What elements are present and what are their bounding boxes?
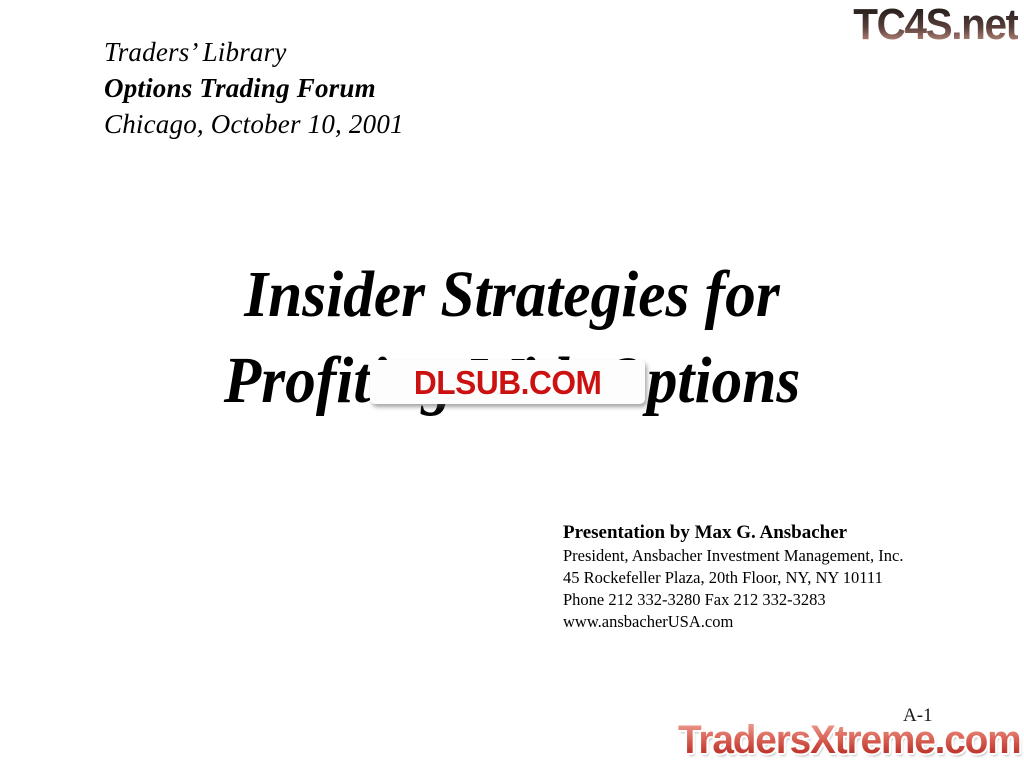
event-header: Traders’ Library Options Trading Forum C… — [104, 34, 624, 142]
presenter-title-company: President, Ansbacher Investment Manageme… — [563, 545, 983, 567]
header-event-name: Options Trading Forum — [104, 70, 624, 106]
header-organizer: Traders’ Library — [104, 34, 624, 70]
tc4s-watermark: TC4S.net — [854, 2, 1018, 48]
presenter-website: www.ansbacherUSA.com — [563, 611, 983, 633]
presenter-phone-fax: Phone 212 332-3280 Fax 212 332-3283 — [563, 589, 983, 611]
presenter-details: Presentation by Max G. Ansbacher Preside… — [563, 520, 983, 633]
dlsub-watermark-text: DLSUB.COM — [414, 366, 602, 399]
title-line-1: Insider Strategies for — [36, 252, 988, 338]
header-location-date: Chicago, October 10, 2001 — [104, 106, 624, 142]
presentation-slide: Traders’ Library Options Trading Forum C… — [0, 0, 1024, 768]
dlsub-watermark-plate: DLSUB.COM — [370, 360, 645, 404]
presenter-address: 45 Rockefeller Plaza, 20th Floor, NY, NY… — [563, 567, 983, 589]
presenter-name: Presentation by Max G. Ansbacher — [563, 520, 983, 545]
tradersxtreme-fill-layer: TradersXtreme.com — [678, 718, 1021, 762]
